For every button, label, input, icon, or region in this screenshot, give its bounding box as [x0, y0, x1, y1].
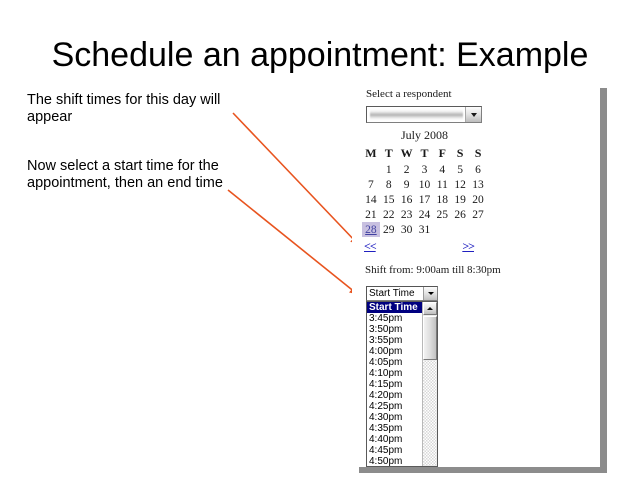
calendar-day-8[interactable]: 8	[380, 177, 398, 192]
calendar-day-empty	[451, 222, 469, 237]
calendar-day-27[interactable]: 27	[469, 207, 487, 222]
calendar-body: 1234567891011121314151617181920212223242…	[362, 162, 487, 237]
calendar-prev-link[interactable]: <<	[364, 239, 376, 254]
start-time-option[interactable]: 4:50pm	[367, 456, 422, 466]
start-time-option[interactable]: 4:10pm	[367, 368, 422, 379]
scrollbar-thumb[interactable]	[423, 316, 437, 360]
start-time-option[interactable]: 3:55pm	[367, 335, 422, 346]
start-time-option[interactable]: 4:15pm	[367, 379, 422, 390]
calendar-nav: << >>	[364, 239, 474, 254]
panel-shadow-bottom	[359, 467, 607, 473]
calendar: July 2008 MTWTFSS 1234567891011121314151…	[362, 128, 487, 237]
respondent-select[interactable]	[366, 106, 482, 123]
calendar-weekday-1: T	[380, 145, 398, 162]
calendar-day-20[interactable]: 20	[469, 192, 487, 207]
calendar-grid: MTWTFSS 12345678910111213141516171819202…	[362, 145, 487, 237]
chevron-down-icon[interactable]	[423, 287, 437, 300]
calendar-day-13[interactable]: 13	[469, 177, 487, 192]
calendar-day-23[interactable]: 23	[398, 207, 416, 222]
calendar-day-25[interactable]: 25	[433, 207, 451, 222]
start-time-option[interactable]: 4:00pm	[367, 346, 422, 357]
calendar-week-row: 14151617181920	[362, 192, 487, 207]
calendar-day-empty	[469, 222, 487, 237]
panel-shadow-right	[600, 88, 607, 473]
start-time-option[interactable]: 3:45pm	[367, 313, 422, 324]
start-time-option[interactable]: 4:05pm	[367, 357, 422, 368]
chevron-down-icon[interactable]	[465, 107, 481, 122]
calendar-next-link[interactable]: >>	[462, 239, 474, 254]
calendar-week-row: 78910111213	[362, 177, 487, 192]
calendar-day-14[interactable]: 14	[362, 192, 380, 207]
calendar-day-31[interactable]: 31	[416, 222, 434, 237]
calendar-day-empty	[362, 162, 380, 177]
calendar-day-3[interactable]: 3	[416, 162, 434, 177]
listbox-scrollbar[interactable]	[422, 302, 437, 466]
start-time-option[interactable]: 3:50pm	[367, 324, 422, 335]
start-time-selected-value: Start Time	[367, 288, 423, 299]
calendar-weekday-0: M	[362, 145, 380, 162]
calendar-day-7[interactable]: 7	[362, 177, 380, 192]
calendar-day-6[interactable]: 6	[469, 162, 487, 177]
calendar-day-17[interactable]: 17	[416, 192, 434, 207]
calendar-weekday-6: S	[469, 145, 487, 162]
start-time-option-list[interactable]: Start Time3:45pm3:50pm3:55pm4:00pm4:05pm…	[367, 302, 422, 466]
calendar-weekday-2: W	[398, 145, 416, 162]
start-time-listbox[interactable]: Start Time3:45pm3:50pm3:55pm4:00pm4:05pm…	[366, 301, 438, 467]
arrow-to-calendar	[233, 113, 357, 243]
calendar-day-16[interactable]: 16	[398, 192, 416, 207]
start-time-option[interactable]: 4:35pm	[367, 423, 422, 434]
scroll-up-icon[interactable]	[423, 302, 437, 315]
start-time-option[interactable]: Start Time	[367, 302, 422, 313]
start-time-option[interactable]: 4:45pm	[367, 445, 422, 456]
calendar-month-label: July 2008	[362, 128, 487, 145]
calendar-day-4[interactable]: 4	[433, 162, 451, 177]
calendar-day-28[interactable]: 28	[362, 222, 380, 237]
calendar-weekday-3: T	[416, 145, 434, 162]
annotation-select-start-time: Now select a start time for the appointm…	[27, 158, 242, 192]
calendar-day-21[interactable]: 21	[362, 207, 380, 222]
calendar-day-18[interactable]: 18	[433, 192, 451, 207]
calendar-week-row: 28293031	[362, 222, 487, 237]
calendar-day-15[interactable]: 15	[380, 192, 398, 207]
calendar-day-2[interactable]: 2	[398, 162, 416, 177]
calendar-week-row: 21222324252627	[362, 207, 487, 222]
app-screenshot-panel: Select a respondent July 2008 MTWTFSS 12…	[352, 82, 600, 467]
calendar-day-empty	[433, 222, 451, 237]
calendar-weekday-4: F	[433, 145, 451, 162]
page-title: Schedule an appointment: Example	[0, 36, 640, 75]
calendar-day-30[interactable]: 30	[398, 222, 416, 237]
start-time-option[interactable]: 4:25pm	[367, 401, 422, 412]
calendar-day-26[interactable]: 26	[451, 207, 469, 222]
calendar-day-9[interactable]: 9	[398, 177, 416, 192]
calendar-day-29[interactable]: 29	[380, 222, 398, 237]
annotation-shift-times: The shift times for this day will appear	[27, 92, 242, 126]
calendar-weekday-header-row: MTWTFSS	[362, 145, 487, 162]
calendar-day-11[interactable]: 11	[433, 177, 451, 192]
respondent-label: Select a respondent	[366, 88, 452, 100]
start-time-option[interactable]: 4:40pm	[367, 434, 422, 445]
respondent-selected-value	[370, 109, 463, 120]
calendar-day-19[interactable]: 19	[451, 192, 469, 207]
calendar-day-10[interactable]: 10	[416, 177, 434, 192]
shift-hours-text: Shift from: 9:00am till 8:30pm	[365, 264, 501, 276]
calendar-day-5[interactable]: 5	[451, 162, 469, 177]
calendar-week-row: 123456	[362, 162, 487, 177]
calendar-day-22[interactable]: 22	[380, 207, 398, 222]
start-time-option[interactable]: 4:30pm	[367, 412, 422, 423]
calendar-day-12[interactable]: 12	[451, 177, 469, 192]
calendar-day-24[interactable]: 24	[416, 207, 434, 222]
calendar-weekday-5: S	[451, 145, 469, 162]
calendar-day-1[interactable]: 1	[380, 162, 398, 177]
start-time-option[interactable]: 4:20pm	[367, 390, 422, 401]
start-time-select[interactable]: Start Time	[366, 286, 438, 301]
arrow-to-start-time	[228, 190, 356, 293]
